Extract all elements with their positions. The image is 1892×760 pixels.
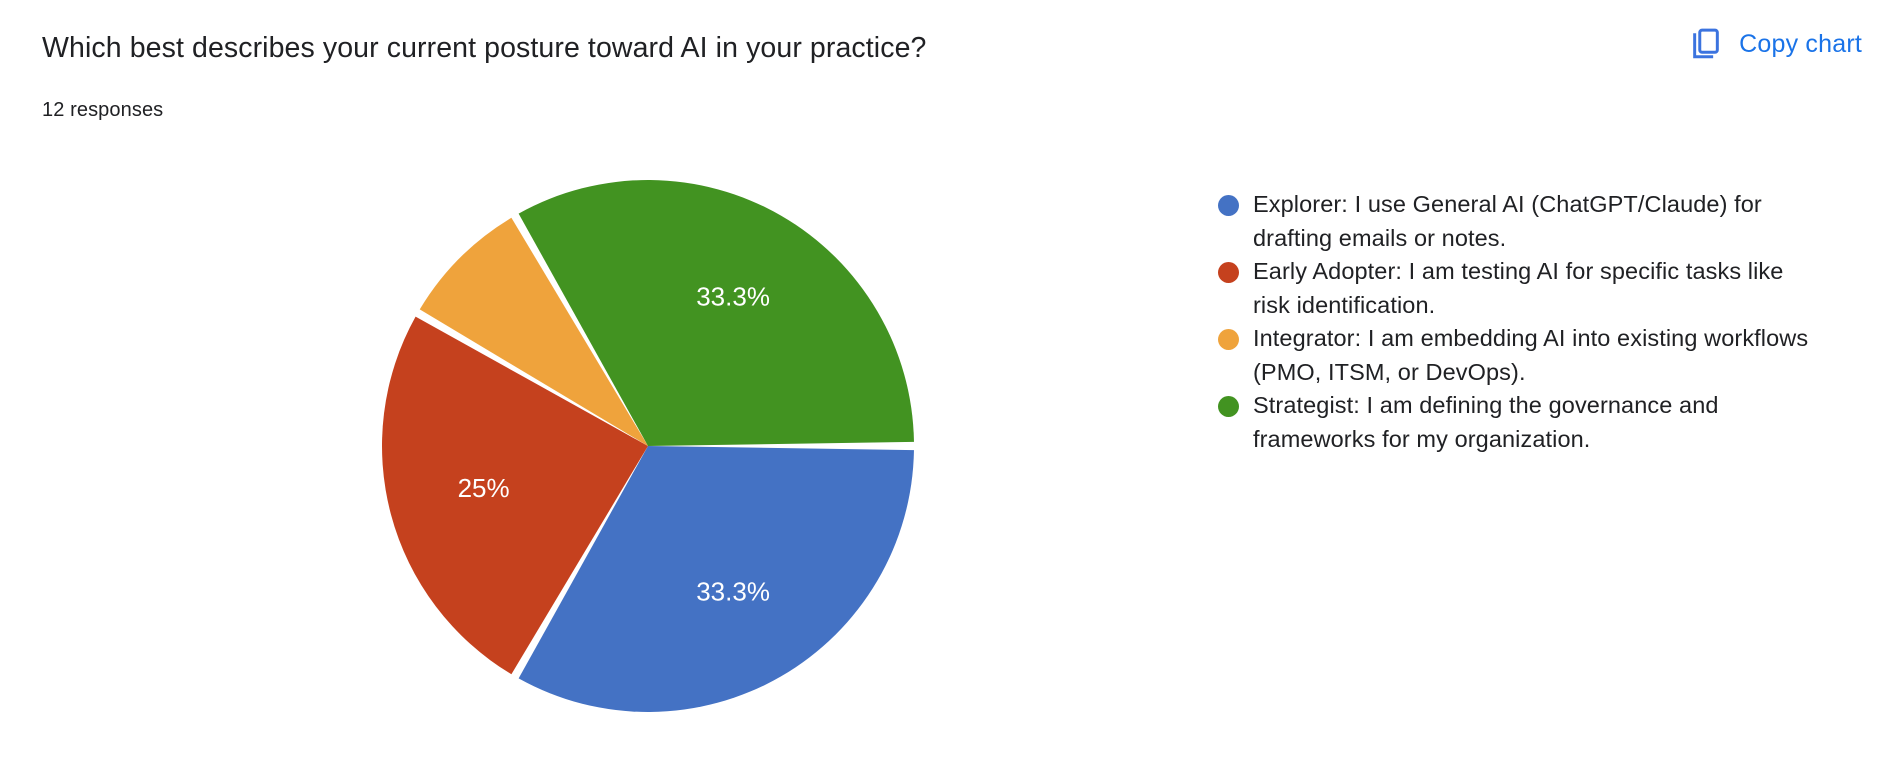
legend-swatch-icon <box>1218 262 1239 283</box>
pie-chart-svg: 33.3%25%33.3% <box>378 176 918 716</box>
legend-swatch-icon <box>1218 329 1239 350</box>
copy-chart-label: Copy chart <box>1739 29 1862 59</box>
legend-item-label: Integrator: I am embedding AI into exist… <box>1253 322 1825 389</box>
legend-item-label: Explorer: I use General AI (ChatGPT/Clau… <box>1253 188 1825 255</box>
legend-item-label: Strategist: I am defining the governance… <box>1253 389 1825 456</box>
legend-swatch-icon <box>1218 195 1239 216</box>
pie-slice-group <box>382 180 914 712</box>
pie-chart-response-panel: Which best describes your current postur… <box>0 0 1892 760</box>
copy-icon <box>1689 27 1723 61</box>
response-count-label: 12 responses <box>42 96 163 124</box>
copy-chart-button[interactable]: Copy chart <box>1677 20 1874 68</box>
chart-header: Which best describes your current postur… <box>0 0 1892 140</box>
pie-slice[interactable] <box>519 180 914 446</box>
legend-item[interactable]: Strategist: I am defining the governance… <box>1218 389 1838 456</box>
pie-slice-percent-label: 33.3% <box>696 281 770 311</box>
pie-slice-percent-label: 25% <box>458 473 510 503</box>
legend-item-label: Early Adopter: I am testing AI for speci… <box>1253 255 1825 322</box>
legend-item[interactable]: Explorer: I use General AI (ChatGPT/Clau… <box>1218 188 1838 255</box>
page-title: Which best describes your current postur… <box>42 28 1282 68</box>
legend-swatch-icon <box>1218 396 1239 417</box>
legend-item[interactable]: Early Adopter: I am testing AI for speci… <box>1218 255 1838 322</box>
chart-legend: Explorer: I use General AI (ChatGPT/Clau… <box>1218 188 1838 456</box>
pie-chart: 33.3%25%33.3% <box>378 176 918 716</box>
pie-slice-percent-label: 33.3% <box>696 576 770 606</box>
chart-body: 33.3%25%33.3% Explorer: I use General AI… <box>0 140 1892 760</box>
legend-item[interactable]: Integrator: I am embedding AI into exist… <box>1218 322 1838 389</box>
